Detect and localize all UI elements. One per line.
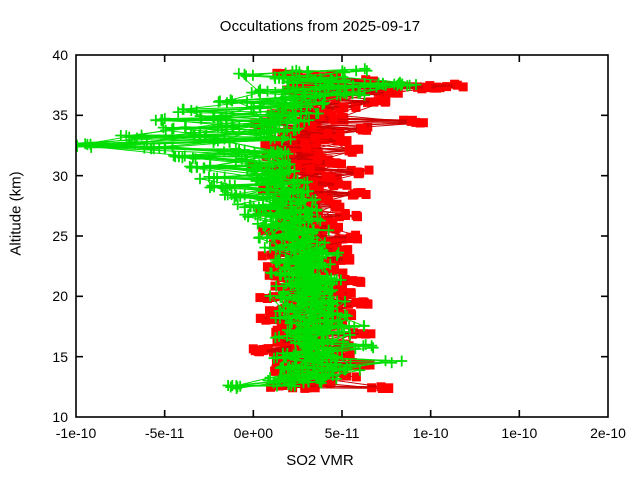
data-point-square [336, 136, 345, 145]
chart-figure: Occultations from 2025-09-17 -1e-10-5e-1… [0, 0, 640, 480]
data-point-square [350, 189, 359, 198]
y-tick-label: 10 [24, 409, 68, 425]
y-tick-label: 20 [24, 288, 68, 304]
chart-title: Occultations from 2025-09-17 [0, 18, 640, 35]
x-tick-label: 2e-10 [590, 425, 626, 441]
x-axis-label: SO2 VMR [0, 452, 640, 469]
data-point-square [407, 117, 416, 126]
data-point-plus [239, 69, 250, 80]
data-point-square [323, 129, 332, 138]
data-point-square [300, 139, 309, 148]
data-point-square [369, 98, 378, 107]
data-point-square [311, 134, 320, 143]
data-layer [59, 63, 468, 394]
y-tick-label: 15 [24, 349, 68, 365]
data-point-plus [69, 139, 80, 150]
data-point-plus [396, 356, 407, 367]
data-point-plus [351, 65, 362, 76]
data-point-square [267, 315, 276, 324]
x-tick-label: 1e-10 [501, 425, 537, 441]
data-point-square [329, 115, 338, 124]
y-tick-label: 35 [24, 107, 68, 123]
data-point-square [357, 124, 366, 133]
data-point-square [255, 293, 264, 302]
data-point-square [334, 180, 343, 189]
x-tick-label: 1e-10 [413, 425, 449, 441]
data-point-square [258, 346, 267, 355]
data-point-plus [359, 63, 370, 74]
data-point-square [360, 298, 369, 307]
x-tick-label: -1e-10 [56, 425, 96, 441]
data-point-plus [168, 123, 179, 134]
data-point-square [348, 276, 357, 285]
data-point-square [256, 314, 265, 323]
data-point-plus [115, 130, 126, 141]
plot-canvas [0, 0, 640, 480]
data-point-square [423, 83, 432, 92]
data-point-plus [380, 355, 391, 366]
y-tick-label: 40 [24, 47, 68, 63]
data-point-square [354, 168, 363, 177]
data-point-square [453, 81, 462, 90]
data-point-square [314, 151, 323, 160]
data-point-square [345, 146, 354, 155]
data-point-plus [262, 86, 273, 97]
data-point-square [337, 113, 346, 122]
data-point-square [330, 201, 339, 210]
data-point-plus [150, 115, 161, 126]
data-point-plus [178, 104, 189, 115]
data-point-plus [386, 357, 397, 368]
data-point-square [352, 211, 361, 220]
data-point-square [343, 254, 352, 263]
data-point-plus [160, 125, 171, 136]
data-point-square [347, 289, 356, 298]
data-point-plus [65, 141, 76, 152]
data-point-square [339, 102, 348, 111]
data-point-square [325, 158, 334, 167]
data-point-plus [195, 173, 206, 184]
y-tick-label: 25 [24, 228, 68, 244]
data-point-square [318, 194, 327, 203]
series-series-green [59, 63, 422, 394]
data-point-square [341, 211, 350, 220]
data-point-square [346, 233, 355, 242]
data-point-square [365, 166, 374, 175]
data-point-square [337, 160, 346, 169]
data-point-plus [361, 65, 372, 76]
data-point-square [322, 172, 331, 181]
data-point-square [306, 165, 315, 174]
x-tick-label: 0e+00 [234, 425, 273, 441]
data-point-plus [59, 138, 70, 149]
x-tick-label: 5e-11 [325, 425, 360, 441]
y-axis-label: Altitude (km) [8, 154, 25, 274]
data-point-square [343, 181, 352, 190]
data-point-square [384, 383, 393, 392]
data-point-plus [232, 381, 243, 392]
data-point-plus [186, 105, 197, 116]
y-tick-label: 30 [24, 168, 68, 184]
data-point-square [352, 298, 361, 307]
data-point-square [377, 382, 386, 391]
x-tick-label: -5e-11 [145, 425, 184, 441]
